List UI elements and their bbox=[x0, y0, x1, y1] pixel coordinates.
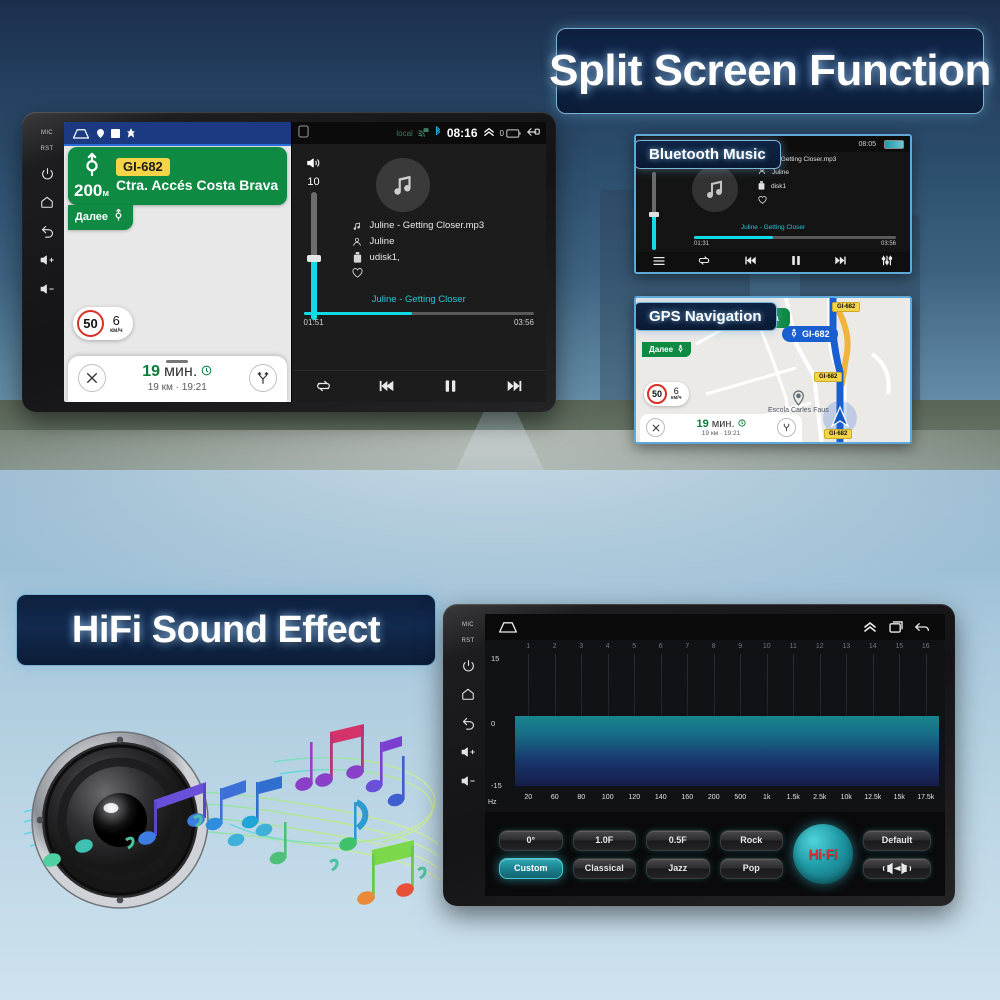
music-note-icon bbox=[352, 221, 363, 231]
road-shield-badge: GI-682 bbox=[116, 158, 170, 176]
music-body: 10 Juline - Getting Closer.mp3 bbox=[292, 144, 546, 402]
default-button[interactable]: Default bbox=[863, 830, 931, 851]
gps-close-route-button[interactable] bbox=[646, 418, 665, 437]
volume-up-icon[interactable] bbox=[36, 249, 58, 271]
eta-minutes: 19 bbox=[142, 363, 160, 381]
elapsed-time: 01:51 bbox=[304, 318, 324, 327]
eq-preset-grid: 0° 1.0F 0.5F Rock Custom Classical Jazz … bbox=[499, 830, 783, 879]
eq-frequency-label: 500 bbox=[727, 794, 754, 806]
nav-street-name: Ctra. Accés Costa Brava bbox=[116, 178, 278, 193]
road-shield-small: GI-682 bbox=[832, 302, 860, 312]
gps-eta-sheet[interactable]: 19 мин. 19 км · 19:21 bbox=[640, 414, 802, 442]
split-screen-title: Split Screen Function bbox=[549, 46, 991, 96]
power-icon[interactable] bbox=[36, 162, 58, 184]
home-icon[interactable] bbox=[495, 617, 521, 637]
current-speed-value: 6 bbox=[113, 314, 120, 327]
gps-route-alternatives-button[interactable] bbox=[777, 418, 796, 437]
nav-maneuver-block: 200м bbox=[74, 152, 109, 199]
volume-up-icon[interactable] bbox=[457, 741, 479, 763]
split-screen-banner: Split Screen Function bbox=[556, 28, 984, 114]
album-art bbox=[376, 158, 430, 212]
eq-response-fill bbox=[515, 716, 939, 786]
balance-speaker-icon[interactable] bbox=[863, 858, 931, 879]
pause-icon[interactable] bbox=[434, 374, 468, 398]
playback-controls bbox=[292, 370, 546, 400]
home-icon[interactable] bbox=[36, 191, 58, 213]
eq-frequency-label: 15k bbox=[886, 794, 913, 806]
pause-icon[interactable] bbox=[791, 253, 801, 271]
volume-knob[interactable] bbox=[307, 255, 321, 262]
eta-distance-arrival: 19 км · 19:21 bbox=[114, 382, 241, 393]
traffic-icon bbox=[738, 418, 746, 430]
bluetooth-music-thumbnail: Bluetooth Music 08:05 10 Juline - Gettin… bbox=[634, 134, 912, 274]
equalizer-icon[interactable] bbox=[881, 253, 893, 271]
roundabout-icon bbox=[113, 208, 124, 226]
sheet-grab-handle[interactable] bbox=[166, 360, 188, 363]
preset-button-classical[interactable]: Classical bbox=[573, 858, 637, 879]
home-icon bbox=[72, 128, 90, 139]
home-icon[interactable] bbox=[457, 683, 479, 705]
cast-icon bbox=[418, 127, 429, 140]
bluetooth-music-label: Bluetooth Music bbox=[634, 140, 781, 169]
traffic-icon bbox=[201, 363, 212, 381]
hifi-toggle-knob[interactable]: Hi·Fi bbox=[793, 824, 853, 884]
volume-value: 10 bbox=[307, 176, 319, 188]
bt-meta-source-row: disk1 bbox=[758, 181, 836, 192]
eq-frequency-labels: 20 60 80 100 120 140 160 200 500 1k 1.5k… bbox=[515, 794, 939, 806]
equalizer-head-unit: MIC RST bbox=[443, 604, 955, 906]
bt-body: 10 Juline - Getting Closer.mp3 Juline bbox=[636, 152, 910, 272]
mic-label: MIC bbox=[41, 126, 53, 139]
route-alternatives-button[interactable] bbox=[249, 364, 277, 392]
speed-limit-sign: 50 bbox=[77, 310, 104, 337]
poi-marker[interactable]: Escola Carles Faus bbox=[768, 390, 829, 414]
eq-frequency-label: 1k bbox=[754, 794, 781, 806]
next-icon[interactable] bbox=[497, 374, 531, 398]
usb-drive-icon bbox=[758, 181, 765, 192]
preset-button-1-0f[interactable]: 1.0F bbox=[573, 830, 637, 851]
bt-track-artist: Juline bbox=[772, 169, 789, 176]
equalizer-screen: 1 2 3 4 5 6 7 8 9 10 11 12 13 14 15 16 1… bbox=[485, 614, 945, 896]
eq-plot-area[interactable] bbox=[515, 654, 939, 786]
status-time: 08:16 bbox=[447, 126, 478, 140]
back-icon[interactable] bbox=[36, 220, 58, 242]
gps-current-speed-block: 6 км/ч bbox=[671, 387, 682, 401]
current-speed-block: 6 км/ч bbox=[110, 314, 123, 334]
route-badge-label: GI-682 bbox=[802, 329, 830, 339]
gps-speed-indicator: 50 6 км/ч bbox=[644, 382, 689, 406]
eq-frequency-label: 20 bbox=[515, 794, 542, 806]
heart-icon[interactable] bbox=[758, 196, 767, 206]
gps-next-maneuver: Далее bbox=[642, 342, 691, 357]
meta-source-row: udisk1, bbox=[352, 252, 538, 263]
rst-label: RST bbox=[41, 142, 54, 155]
nav-next-maneuver: Далее bbox=[68, 205, 133, 230]
preset-button-0-5f[interactable]: 0.5F bbox=[646, 830, 710, 851]
gps-navigation-label: GPS Navigation bbox=[634, 302, 777, 331]
progress-area[interactable]: 01:51 03:56 bbox=[304, 312, 534, 327]
eq-y-max: 15 bbox=[491, 654, 499, 663]
bt-progress-area[interactable]: 01:31 03:56 bbox=[694, 236, 896, 247]
eta-info: 19 мин. 19 км · 19:21 bbox=[114, 363, 241, 393]
back-icon[interactable] bbox=[457, 712, 479, 734]
bt-volume-fill bbox=[652, 214, 656, 250]
speed-unit-label: км/ч bbox=[110, 328, 123, 334]
roundabout-icon bbox=[677, 344, 684, 355]
eq-frequency-label: 2.5k bbox=[807, 794, 834, 806]
person-icon bbox=[352, 237, 363, 247]
speaker-music-illustration bbox=[24, 694, 444, 918]
bt-volume-track[interactable] bbox=[652, 172, 656, 250]
gps-eta-minutes-unit: мин. bbox=[712, 418, 735, 430]
eq-frequency-label: 200 bbox=[701, 794, 728, 806]
progress-fill bbox=[304, 312, 412, 315]
eq-frequency-label: 10k bbox=[833, 794, 860, 806]
progress-times: 01:51 03:56 bbox=[304, 318, 534, 327]
close-route-button[interactable] bbox=[78, 364, 106, 392]
eq-frequency-label: 60 bbox=[542, 794, 569, 806]
bt-progress-track[interactable] bbox=[694, 236, 896, 239]
bt-now-playing-title: Juline - Getting Closer bbox=[636, 224, 910, 231]
eq-y-axis-labels: 15 0 -15 bbox=[487, 640, 513, 812]
locale-text: local bbox=[396, 129, 412, 138]
eq-right-buttons: Default bbox=[863, 830, 931, 879]
eq-x-axis-unit: Hz bbox=[488, 799, 497, 806]
speaker-icon bbox=[307, 156, 321, 174]
next-icon[interactable] bbox=[834, 253, 847, 271]
bluetooth-icon bbox=[434, 126, 442, 140]
meta-artist-row: Juline bbox=[352, 236, 538, 247]
eq-frequency-label: 17.5k bbox=[913, 794, 940, 806]
music-status-bar: local 08:16 0 bbox=[292, 122, 546, 144]
nav-status-bar bbox=[64, 122, 291, 144]
rst-label: RST bbox=[462, 634, 475, 647]
power-icon[interactable] bbox=[457, 654, 479, 676]
bt-elapsed-time: 01:31 bbox=[694, 241, 709, 247]
nav-direction-card: 200м GI-682 Ctra. Accés Costa Brava bbox=[68, 147, 287, 205]
eq-frequency-label: 100 bbox=[595, 794, 622, 806]
volume-fill bbox=[311, 258, 317, 320]
music-pane[interactable]: local 08:16 0 bbox=[291, 122, 546, 402]
nav-next-label: Далее bbox=[75, 211, 108, 223]
preset-button-rock[interactable]: Rock bbox=[720, 830, 784, 851]
eq-frequency-label: 160 bbox=[674, 794, 701, 806]
gps-eta-info: 19 мин. 19 км · 19:21 bbox=[670, 418, 772, 437]
bt-volume-slider[interactable]: 10 bbox=[650, 162, 658, 250]
list-icon[interactable] bbox=[653, 253, 665, 271]
usb-drive-icon bbox=[352, 252, 363, 263]
gps-speed-unit: км/ч bbox=[671, 396, 682, 401]
location-icon bbox=[97, 129, 104, 138]
meta-file-row: Juline - Getting Closer.mp3 bbox=[352, 220, 538, 231]
android-navigation-bar bbox=[485, 614, 945, 640]
equalizer-graph[interactable]: 1 2 3 4 5 6 7 8 9 10 11 12 13 14 15 16 1… bbox=[485, 640, 945, 812]
eq-frequency-label: 1.5k bbox=[780, 794, 807, 806]
repeat-icon[interactable] bbox=[306, 374, 340, 398]
eq-side-button-rail: MIC RST bbox=[451, 614, 485, 896]
preset-button-phase0[interactable]: 0° bbox=[499, 830, 563, 851]
expand-icon[interactable] bbox=[857, 617, 883, 637]
eq-preset-bar: 0° 1.0F 0.5F Rock Custom Classical Jazz … bbox=[485, 812, 945, 896]
eta-minutes-unit: мин. bbox=[164, 363, 197, 381]
eq-y-min: -15 bbox=[491, 781, 502, 790]
eq-frequency-label: 12.5k bbox=[860, 794, 887, 806]
gps-eta-time-row: 19 мин. bbox=[670, 418, 772, 430]
mic-label: MIC bbox=[462, 618, 474, 631]
eta-bottom-sheet[interactable]: 19 мин. 19 км · 19:21 bbox=[68, 356, 287, 402]
background-haze bbox=[0, 430, 1000, 610]
volume-down-icon[interactable] bbox=[36, 278, 58, 300]
roundabout-icon bbox=[790, 328, 798, 340]
roundabout-icon bbox=[81, 152, 103, 181]
gps-speed-limit-sign: 50 bbox=[647, 384, 667, 404]
speed-indicator: 50 6 км/ч bbox=[73, 307, 133, 340]
bt-status-time: 08:05 bbox=[858, 141, 876, 148]
gps-navigation-thumbnail: GI-682 GI-682 GI-682 GI-682 Escola Carle… bbox=[634, 296, 912, 444]
battery-level: 0 bbox=[500, 129, 504, 138]
progress-track[interactable] bbox=[304, 312, 534, 315]
navigation-pane[interactable]: 200м GI-682 Ctra. Accés Costa Brava Дале… bbox=[64, 122, 291, 402]
road-shield-small: GI-682 bbox=[814, 372, 842, 382]
nav-street-block: GI-682 Ctra. Accés Costa Brava bbox=[116, 158, 278, 193]
bt-progress-fill bbox=[694, 236, 773, 239]
app-icon bbox=[298, 125, 309, 141]
back-icon[interactable] bbox=[909, 617, 935, 637]
recents-icon[interactable] bbox=[883, 617, 909, 637]
road-shield-small: GI-682 bbox=[824, 429, 852, 439]
gps-icon bbox=[127, 128, 135, 138]
route-badge: GI-682 bbox=[782, 326, 838, 342]
bt-progress-times: 01:31 03:56 bbox=[694, 241, 896, 247]
hifi-banner: HiFi Sound Effect bbox=[16, 594, 436, 666]
bt-track-source: disk1 bbox=[771, 183, 786, 190]
gps-eta-minutes: 19 bbox=[696, 418, 708, 430]
track-metadata: Juline - Getting Closer.mp3 Juline udisk… bbox=[352, 220, 538, 278]
eq-frequency-label: 80 bbox=[568, 794, 595, 806]
eq-frequency-label: 120 bbox=[621, 794, 648, 806]
side-button-rail: MIC RST bbox=[30, 122, 64, 402]
main-screen: 200м GI-682 Ctra. Accés Costa Brava Дале… bbox=[64, 122, 546, 402]
volume-down-icon[interactable] bbox=[457, 770, 479, 792]
battery-icon bbox=[884, 140, 904, 149]
duration-time: 03:56 bbox=[514, 318, 534, 327]
bt-volume-knob[interactable] bbox=[649, 212, 659, 217]
bt-album-art bbox=[692, 166, 738, 212]
gps-eta-distance-arrival: 19 км · 19:21 bbox=[670, 430, 772, 437]
preset-button-jazz[interactable]: Jazz bbox=[646, 858, 710, 879]
nav-distance: 200м bbox=[74, 182, 109, 199]
eq-y-mid: 0 bbox=[491, 719, 495, 728]
now-playing-title: Juline - Getting Closer bbox=[292, 294, 546, 305]
meta-favorite-row[interactable] bbox=[352, 268, 538, 278]
eta-time-row: 19 мин. bbox=[114, 363, 241, 381]
square-icon bbox=[111, 129, 120, 138]
heart-icon[interactable] bbox=[352, 268, 363, 278]
battery-indicator: 0 bbox=[500, 129, 522, 138]
gps-next-label: Далее bbox=[649, 345, 673, 354]
track-source: udisk1, bbox=[370, 252, 400, 263]
track-artist: Juline bbox=[370, 236, 395, 247]
track-file-name: Juline - Getting Closer.mp3 bbox=[370, 220, 485, 231]
expand-icon bbox=[483, 127, 495, 140]
navbar-spacer bbox=[521, 617, 857, 637]
preset-button-pop[interactable]: Pop bbox=[720, 858, 784, 879]
preset-button-custom[interactable]: Custom bbox=[499, 858, 563, 879]
eq-frequency-label: 140 bbox=[648, 794, 675, 806]
hifi-title: HiFi Sound Effect bbox=[72, 609, 380, 652]
bt-duration-time: 03:56 bbox=[881, 241, 896, 247]
bt-meta-favorite-row[interactable] bbox=[758, 196, 836, 206]
repeat-icon[interactable] bbox=[698, 253, 710, 271]
previous-icon[interactable] bbox=[744, 253, 757, 271]
bt-playback-controls bbox=[636, 252, 910, 272]
poi-name: Escola Carles Faus bbox=[768, 407, 829, 414]
previous-icon[interactable] bbox=[370, 374, 404, 398]
main-head-unit: MIC RST bbox=[22, 112, 556, 412]
back-icon[interactable] bbox=[527, 127, 540, 140]
